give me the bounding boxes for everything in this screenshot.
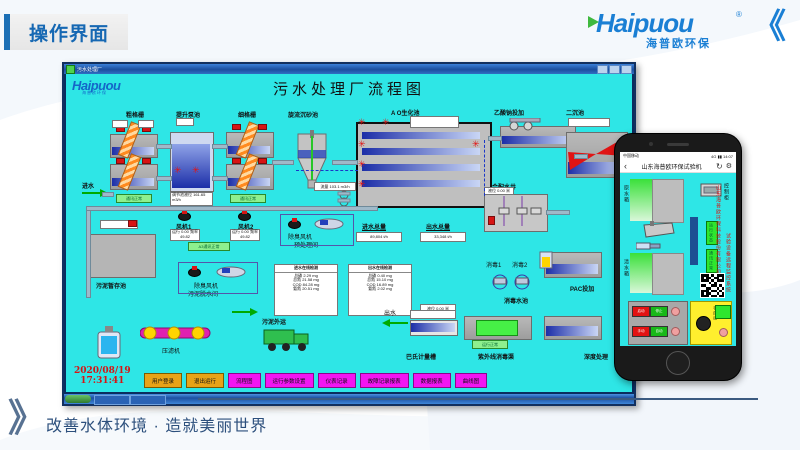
vertical-title-2: 试验设备远程监控系统 xyxy=(725,233,732,293)
status-chip-comm-2: 通讯正常 xyxy=(230,194,266,203)
phone-scada-body[interactable]: 原水箱 清水箱 控制柜 xyxy=(620,173,736,346)
back-icon[interactable]: ‹ xyxy=(624,161,627,171)
outlet-monitor-title: 出水在线检测 xyxy=(349,266,411,273)
ao-lane-1 xyxy=(362,132,480,139)
button-user-login[interactable]: 用户登录 xyxy=(144,373,182,388)
footer-chevron-icon: 》 xyxy=(8,400,46,438)
label-coarse-screen: 粗格栅 xyxy=(126,110,144,119)
footer-tagline: 改善水体环境 · 造就美丽世界 xyxy=(46,412,267,436)
page-title: 操作界面 xyxy=(29,19,109,46)
clean-water-tank-label: 清水箱 xyxy=(623,259,630,277)
ao-lane-3 xyxy=(362,164,480,171)
label-uv-disinfection: 紫外线消毒渠 xyxy=(478,352,514,361)
button-flow-diagram[interactable]: 流程图 xyxy=(228,373,261,388)
refresh-icon[interactable]: ↻ xyxy=(716,162,723,171)
valve-indicator-6 xyxy=(258,124,267,130)
blower-1-motor-icon xyxy=(178,212,191,221)
ao-lane-2 xyxy=(362,148,480,155)
raw-water-tank xyxy=(630,179,652,221)
dosing-water xyxy=(502,136,572,144)
phone-button-start[interactable]: 启动 xyxy=(632,306,650,317)
green-chip-1-label: 运行状态 xyxy=(708,223,714,243)
outlet-unit-3: mg xyxy=(386,286,392,291)
sludge-tank-icon xyxy=(92,324,128,364)
taskbar-item-1[interactable] xyxy=(94,395,130,405)
info-chip-blower-1: 运行 0.00 频率 49.82 xyxy=(170,229,200,241)
uv-lamps xyxy=(476,320,518,336)
ao-mixer-3-icon: ✳ xyxy=(358,140,366,149)
pipe-seg-8 xyxy=(488,136,502,141)
deodor-fan-2-icon xyxy=(188,268,201,277)
valve-indicator-5 xyxy=(232,124,241,130)
pipe-seg-7 xyxy=(332,160,358,165)
inlet-row-3: 氨氮 20.51 mg xyxy=(275,287,337,292)
system-clock: 2020/08/19 17:31:41 xyxy=(74,367,131,386)
pipe-seg-9 xyxy=(574,154,588,159)
deodor-fan-1-icon xyxy=(288,220,301,229)
knob-panel[interactable]: 手自动 xyxy=(690,301,732,345)
inlet-monitor-panel: 进水在线检测 总磷 2.29 mg 总氮 21.58 mg COD 84.28 … xyxy=(274,264,338,316)
window-controls[interactable] xyxy=(597,65,632,74)
label-secondary-clarifier: 二沉池 xyxy=(566,108,584,117)
phone-button-auto[interactable]: 自动 xyxy=(650,326,668,337)
chevron-left-icon: 《 xyxy=(752,10,786,44)
scada-title: 污水处理厂流程图 xyxy=(66,78,632,99)
label-parshall-flume: 巴氏计量槽 xyxy=(406,352,436,361)
valve-indicator-7 xyxy=(232,158,241,164)
label-sodium-acetate: 乙酸钠投加 xyxy=(494,108,524,117)
control-panel[interactable]: 启动 停止 手动 自动 xyxy=(628,301,688,345)
brand-name-cn: 海普欧环保 xyxy=(646,35,711,51)
deodor-unit-1-icon xyxy=(314,218,344,230)
label-sludge-storage: 污泥暂存池 xyxy=(96,281,126,290)
vertical-title-1: 山东海普欧环保科技股份有限公司 xyxy=(715,185,722,275)
well-valves-icon xyxy=(498,196,544,228)
info-chip-ao xyxy=(410,116,459,128)
label-fine-screen: 细格栅 xyxy=(238,110,256,119)
label-pac-dosing: PAC投加 xyxy=(570,284,594,293)
label-disinfect-b: 消毒2 xyxy=(512,260,527,269)
phone-camera-icon xyxy=(649,142,653,146)
indicator-lamp-1 xyxy=(671,307,680,316)
pipe-seg-6 xyxy=(272,160,294,165)
info-chip-well-level: 液位 0.00 米 xyxy=(484,187,514,195)
maximize-button[interactable] xyxy=(609,65,620,74)
selector-knob[interactable] xyxy=(696,316,711,331)
feed-pump-icon xyxy=(636,241,662,251)
totalizer-label-outlet: 出水总量 xyxy=(426,222,450,231)
pipe-seg-3 xyxy=(156,176,172,181)
sludge-truck-icon xyxy=(262,326,312,354)
phone-screen[interactable]: 中国移动 4G ▮▮ 14:07 ‹ 山东海普欧环保试验机 ↻ ⚙ 原水箱 清水… xyxy=(620,152,736,346)
phone-nav-title: 山东海普欧环保试验机 xyxy=(630,162,713,171)
button-exit-run[interactable]: 退出运行 xyxy=(186,373,224,388)
totalizer-label-inlet: 进水总量 xyxy=(362,222,386,231)
qr-grid xyxy=(701,274,724,297)
ao-mixer-5-icon: ✳ xyxy=(358,180,366,189)
valve-indicator-3 xyxy=(116,158,125,164)
advanced-water xyxy=(546,326,598,336)
reading-clarifier xyxy=(568,118,610,127)
reading-2 xyxy=(138,120,154,128)
label-effluent: 出水 xyxy=(384,308,396,317)
button-data-report[interactable]: 数据报表 xyxy=(413,373,451,388)
deodor-unit-2-icon xyxy=(216,266,246,278)
minimize-button[interactable] xyxy=(597,65,608,74)
inlet-unit-3: mg xyxy=(313,286,319,291)
mobile-phone: 中国移动 4G ▮▮ 14:07 ‹ 山东海普欧环保试验机 ↻ ⚙ 原水箱 清水… xyxy=(614,133,742,381)
reading-1 xyxy=(112,120,128,128)
footer-divider xyxy=(198,398,758,400)
pipe-seg-1 xyxy=(102,192,114,197)
pump-impeller-2-icon: ✳ xyxy=(192,166,200,175)
outlet-value-3: 2.02 xyxy=(377,286,385,291)
pipe-seg-10 xyxy=(546,210,570,215)
button-meter-records[interactable]: 仪表记录 xyxy=(318,373,356,388)
blower-2-motor-icon xyxy=(238,212,251,221)
pipe-seg-2 xyxy=(156,144,172,149)
ao-mixer-4-icon: ✳ xyxy=(358,160,366,169)
valve-indicator-9 xyxy=(488,216,495,225)
label-grit-chamber: 旋流沉砂池 xyxy=(288,110,318,119)
pac-dosing-icon xyxy=(536,248,558,272)
indicator-lamp-2 xyxy=(671,327,680,336)
qr-code[interactable] xyxy=(700,273,725,298)
phone-button-stop[interactable]: 停止 xyxy=(650,306,668,317)
button-trend-chart[interactable]: 曲线图 xyxy=(455,373,488,388)
ao-mixer-6-icon: ✳ xyxy=(472,140,480,149)
phone-status-bar: 中国移动 4G ▮▮ 14:07 xyxy=(620,152,736,160)
button-fault-report[interactable]: 故障记录报表 xyxy=(360,373,409,388)
pipe-main-1 xyxy=(86,206,378,211)
blue-column xyxy=(690,217,698,265)
status-chip-comm-1: 通讯正常 xyxy=(116,194,152,203)
app-icon xyxy=(66,65,75,74)
phone-speaker xyxy=(667,143,689,146)
parshall-reading xyxy=(410,310,456,319)
clock-time: 17:31:41 xyxy=(74,377,131,386)
pipe-dash-2 xyxy=(296,170,358,171)
membrane-skid-icon xyxy=(642,221,676,239)
pipe-seg-5 xyxy=(212,176,228,181)
ao-lane-4 xyxy=(362,180,480,187)
label-disinfection-pool: 消毒水池 xyxy=(504,296,528,305)
outlet-row-3: 氨氮 2.02 mg xyxy=(349,287,411,292)
reading-3 xyxy=(176,118,194,126)
ao-mixer-1-icon: ✳ xyxy=(358,118,366,127)
page-title-box: 操作界面 xyxy=(10,14,128,50)
window-title: 污水处理厂 xyxy=(77,66,102,73)
gear-icon[interactable]: ⚙ xyxy=(726,162,732,170)
sludge-out-arrow-icon xyxy=(232,308,258,317)
registered-mark: ® xyxy=(736,10,742,19)
info-chip-lift-pump: 调节池液位 161.65 m3/h xyxy=(170,192,213,206)
slide-root: 操作界面 Haipuou ® 海普欧环保 《 污水处理厂 Haipuou 海普欧… xyxy=(0,0,800,450)
window-titlebar: 污水处理厂 xyxy=(64,64,634,74)
outlet-monitor-panel: 出水在线检测 总磷 0.40 mg 总氮 15.10 mg COD 16.89 … xyxy=(348,264,412,316)
knob-panel-led xyxy=(715,305,731,319)
pipe-riser-1 xyxy=(86,206,91,298)
scada-button-bar[interactable]: 用户登录 退出运行 流程图 运行参数设置 仪表记录 故障记录报表 数据报表 曲线… xyxy=(144,373,628,388)
indicator-lamp-3 xyxy=(719,328,728,337)
close-button[interactable] xyxy=(621,65,632,74)
inlet-monitor-title: 进水在线检测 xyxy=(275,266,337,273)
valve-indicator-10 xyxy=(128,220,137,227)
scada-screen[interactable]: Haipuou 海普欧环保 污水处理厂流程图 粗格栅 提升泵池 细格栅 旋流沉砂… xyxy=(66,74,632,392)
info-chip-blower-2: 运行 0.00 频率 49.82 xyxy=(230,229,260,241)
ao-mixer-2-icon: ✳ xyxy=(382,118,390,127)
taskbar-item-2[interactable] xyxy=(130,395,166,405)
disinfection-pumps-icon xyxy=(490,270,534,294)
raw-water-tank-label: 原水箱 xyxy=(623,185,630,203)
start-button[interactable] xyxy=(65,395,91,403)
status-chip-run: 运行正常 xyxy=(472,340,508,349)
button-run-params[interactable]: 运行参数设置 xyxy=(265,373,314,388)
clean-water-tank-body xyxy=(652,253,684,295)
sludge-storage-tank xyxy=(90,234,156,278)
status-right: 4G ▮▮ 14:07 xyxy=(711,154,733,159)
phone-home-button[interactable] xyxy=(666,351,690,375)
label-advanced-treatment: 深度处理 xyxy=(584,352,608,361)
outlet-label-3: 氨氮 xyxy=(368,286,376,291)
dosing-pumps-icon xyxy=(506,118,546,132)
label-sludge-transport: 污泥外运 xyxy=(262,317,286,326)
desktop-monitor: 污水处理厂 Haipuou 海普欧环保 污水处理厂流程图 粗格栅 提升泵池 细格… xyxy=(62,62,636,406)
effluent-arrow-icon xyxy=(382,317,410,329)
raw-water-tank-body xyxy=(652,179,684,223)
pipe-dash-1 xyxy=(484,140,485,196)
valve-indicator-8 xyxy=(258,158,267,164)
carrier-label: 中国移动 xyxy=(623,153,639,159)
control-box-label: 控制柜 xyxy=(723,183,730,201)
phone-nav-bar[interactable]: ‹ 山东海普欧环保试验机 ↻ ⚙ xyxy=(620,160,736,173)
totalizer-value-inlet: 89,804 t/h xyxy=(356,232,402,242)
green-chip-2-label: 通讯正常 xyxy=(708,251,714,271)
pump-impeller-1-icon: ✳ xyxy=(174,166,182,175)
clean-water-tank xyxy=(630,253,652,293)
brand-logo: Haipuou ® 海普欧环保 《 xyxy=(586,8,786,58)
inlet-value-3: 20.51 xyxy=(302,286,312,291)
filter-press-icon xyxy=(140,322,240,348)
label-disinfect-a: 消毒1 xyxy=(486,260,501,269)
pipe-seg-4 xyxy=(212,144,228,149)
totalizer-value-outlet: 33,348 t/h xyxy=(420,232,466,242)
inlet-label-3: 氨氮 xyxy=(293,286,301,291)
status-chip-a3: A3通讯正常 xyxy=(188,242,230,251)
valve-indicator-4 xyxy=(142,158,151,164)
phone-button-manual[interactable]: 手动 xyxy=(632,326,650,337)
parshall-water xyxy=(411,323,455,332)
